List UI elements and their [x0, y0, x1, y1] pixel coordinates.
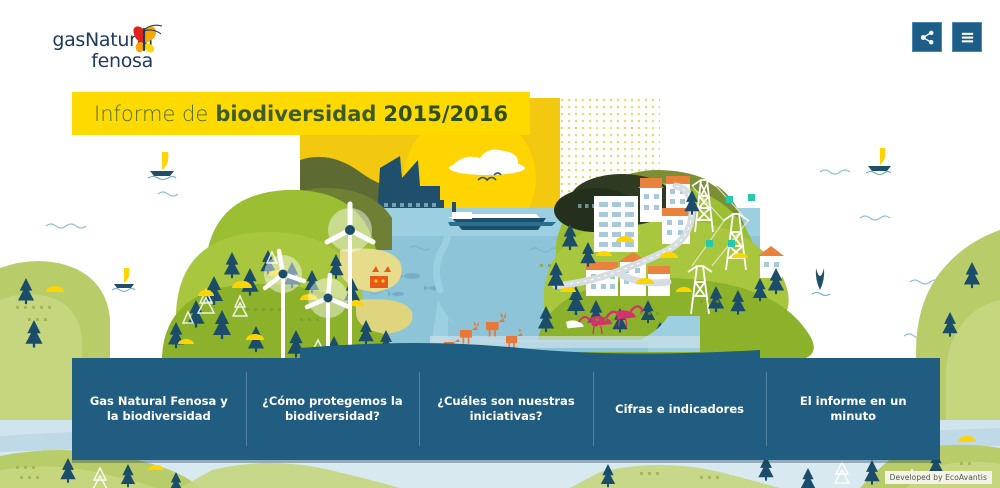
share-button[interactable]	[912, 22, 942, 52]
header-actions	[912, 22, 982, 52]
brand-logo[interactable]: gasNatural fenosa	[18, 20, 178, 82]
section-nav: Gas Natural Fenosa y la biodiversidad ¿C…	[72, 358, 940, 460]
page-title: Informe de biodiversidad 2015/2016	[72, 92, 530, 135]
page-root: gasNatural fenosa	[0, 0, 1000, 488]
title-part-year: 2015/2016	[383, 102, 508, 126]
menu-button[interactable]	[952, 22, 982, 52]
nav-item-gas-natural-fenosa-biodiversidad[interactable]: Gas Natural Fenosa y la biodiversidad	[72, 358, 246, 460]
title-part-subject: biodiversidad	[215, 102, 376, 126]
nav-item-iniciativas[interactable]: ¿Cuáles son nuestras iniciativas?	[419, 358, 593, 460]
title-part-light: Informe de	[94, 102, 208, 126]
share-icon	[920, 30, 935, 45]
nav-item-informe-un-minuto[interactable]: El informe en un minuto	[766, 358, 940, 460]
nav-item-como-protegemos[interactable]: ¿Cómo protegemos la biodiversidad?	[246, 358, 420, 460]
nav-item-cifras-indicadores[interactable]: Cifras e indicadores	[593, 358, 767, 460]
hamburger-menu-icon	[960, 30, 975, 45]
developer-credit[interactable]: Developed by EcoAvantis	[885, 471, 992, 484]
butterfly-icon	[122, 22, 168, 58]
